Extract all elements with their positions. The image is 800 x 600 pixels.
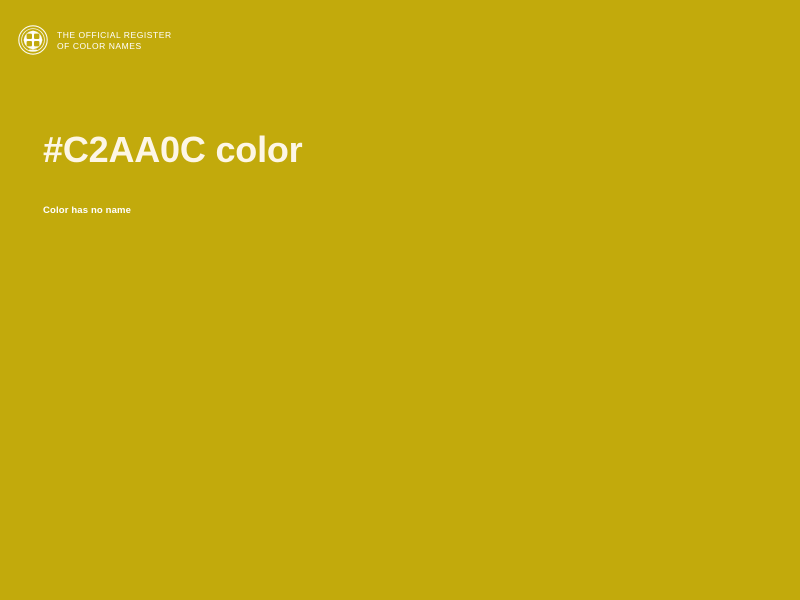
register-seal-icon: [17, 24, 49, 56]
site-brand[interactable]: THE OFFICIAL REGISTER OF COLOR NAMES: [17, 24, 172, 56]
color-info-block: #C2AA0C color Color has no name: [43, 128, 743, 218]
brand-wordmark-line-1: THE OFFICIAL REGISTER: [57, 30, 172, 41]
brand-wordmark-line-2: OF COLOR NAMES: [57, 41, 172, 52]
color-name-status: Color has no name: [43, 172, 743, 218]
page-title: #C2AA0C color: [43, 128, 743, 172]
color-page: THE OFFICIAL REGISTER OF COLOR NAMES #C2…: [0, 0, 800, 600]
brand-wordmark: THE OFFICIAL REGISTER OF COLOR NAMES: [57, 29, 172, 51]
